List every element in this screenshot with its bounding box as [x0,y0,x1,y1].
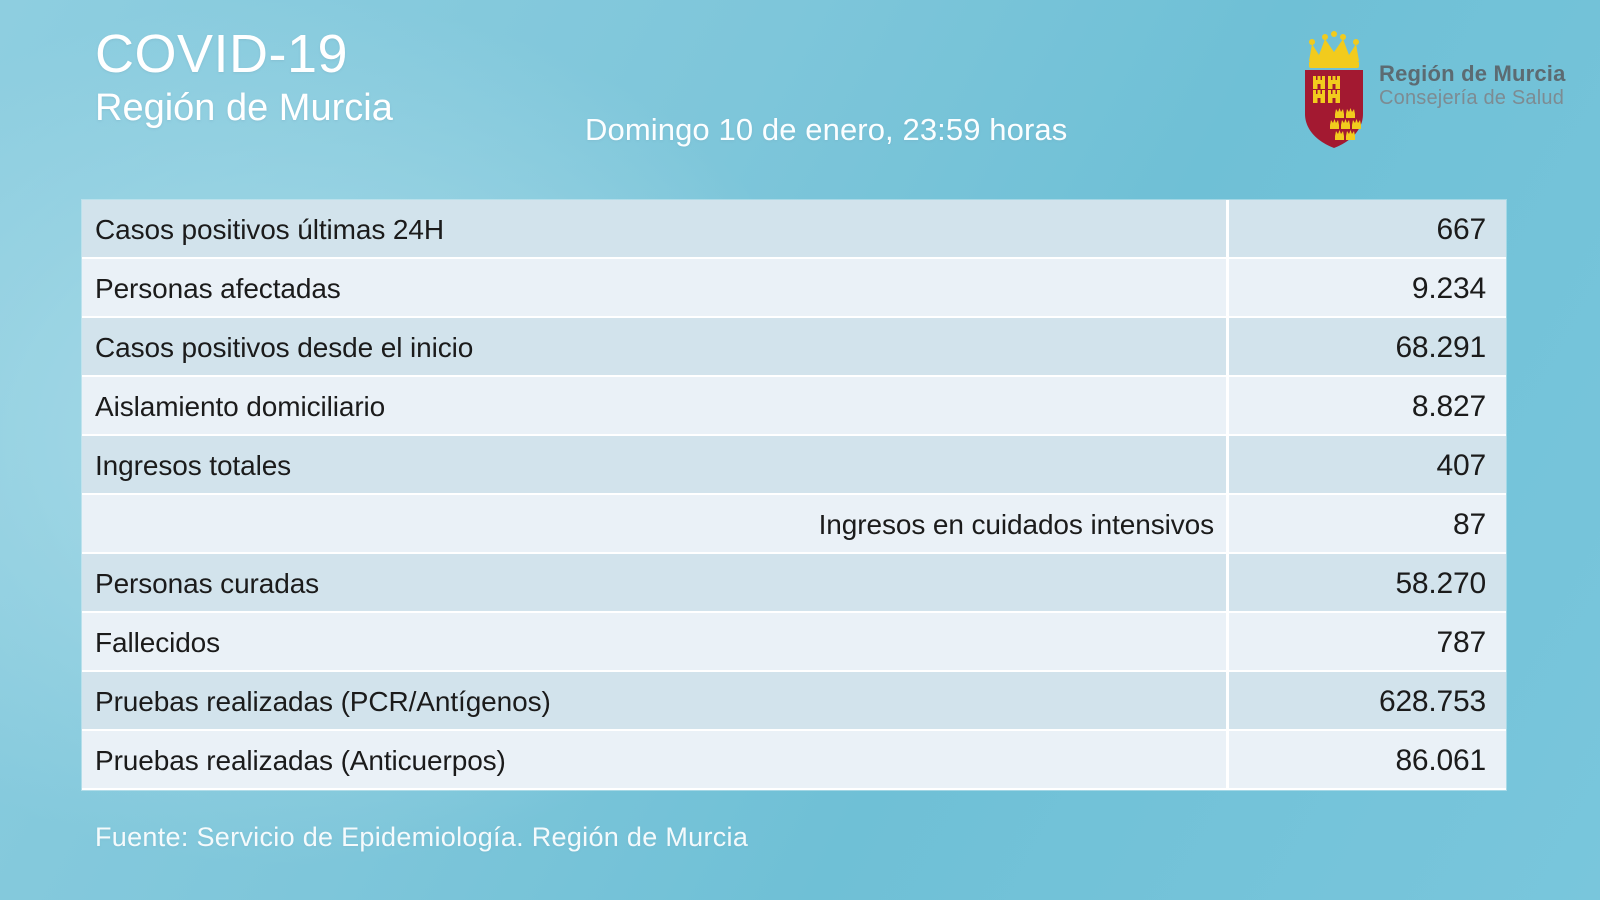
column-divider [1226,200,1229,259]
page-header: COVID-19 Región de Murcia Domingo 10 de … [0,0,1600,190]
stat-value: 667 [1229,213,1506,247]
stat-label: Pruebas realizadas (PCR/Antígenos) [82,686,1226,718]
stat-value: 68.291 [1229,331,1506,365]
column-divider [1226,731,1229,790]
column-divider [1226,318,1229,377]
column-divider [1226,613,1229,672]
page-title: COVID-19 [95,24,393,84]
column-divider [1226,554,1229,613]
stat-label: Ingresos en cuidados intensivos [82,509,1226,541]
report-timestamp: Domingo 10 de enero, 23:59 horas [585,112,1067,148]
stat-label: Pruebas realizadas (Anticuerpos) [82,745,1226,777]
table-row: Ingresos totales407 [82,436,1506,495]
stat-label: Casos positivos últimas 24H [82,214,1226,246]
stat-label: Casos positivos desde el inicio [82,332,1226,364]
stat-label: Fallecidos [82,627,1226,659]
covid-stats-table: Casos positivos últimas 24H667Personas a… [82,200,1506,790]
stat-value: 787 [1229,626,1506,660]
table-row: Ingresos en cuidados intensivos87 [82,495,1506,554]
stat-value: 87 [1229,508,1506,542]
stat-value: 86.061 [1229,744,1506,778]
title-block: COVID-19 Región de Murcia [95,24,393,131]
table-row: Personas afectadas9.234 [82,259,1506,318]
region-de-murcia-logo: Región de Murcia Consejería de Salud [1295,30,1585,150]
source-footer: Fuente: Servicio de Epidemiología. Regió… [95,822,748,853]
logo-line-consejeria: Consejería de Salud [1379,87,1566,109]
table-row: Casos positivos últimas 24H667 [82,200,1506,259]
column-divider [1226,672,1229,731]
stat-label: Personas afectadas [82,273,1226,305]
page-subtitle: Región de Murcia [95,86,393,131]
stat-label: Aislamiento domiciliario [82,391,1226,423]
column-divider [1226,377,1229,436]
stat-value: 407 [1229,449,1506,483]
stat-label: Ingresos totales [82,450,1226,482]
logo-line-region: Región de Murcia [1379,62,1566,87]
stat-value: 8.827 [1229,390,1506,424]
stat-value: 58.270 [1229,567,1506,601]
column-divider [1226,495,1229,554]
logo-text-block: Región de Murcia Consejería de Salud [1379,62,1566,109]
stat-value: 9.234 [1229,272,1506,306]
column-divider [1226,436,1229,495]
column-divider [1226,259,1229,318]
stat-value: 628.753 [1229,685,1506,719]
murcia-coat-of-arms-icon [1295,30,1373,150]
table-row: Pruebas realizadas (Anticuerpos)86.061 [82,731,1506,790]
table-row: Personas curadas58.270 [82,554,1506,613]
table-row: Fallecidos787 [82,613,1506,672]
stat-label: Personas curadas [82,568,1226,600]
table-row: Pruebas realizadas (PCR/Antígenos)628.75… [82,672,1506,731]
table-row: Aislamiento domiciliario8.827 [82,377,1506,436]
table-row: Casos positivos desde el inicio68.291 [82,318,1506,377]
